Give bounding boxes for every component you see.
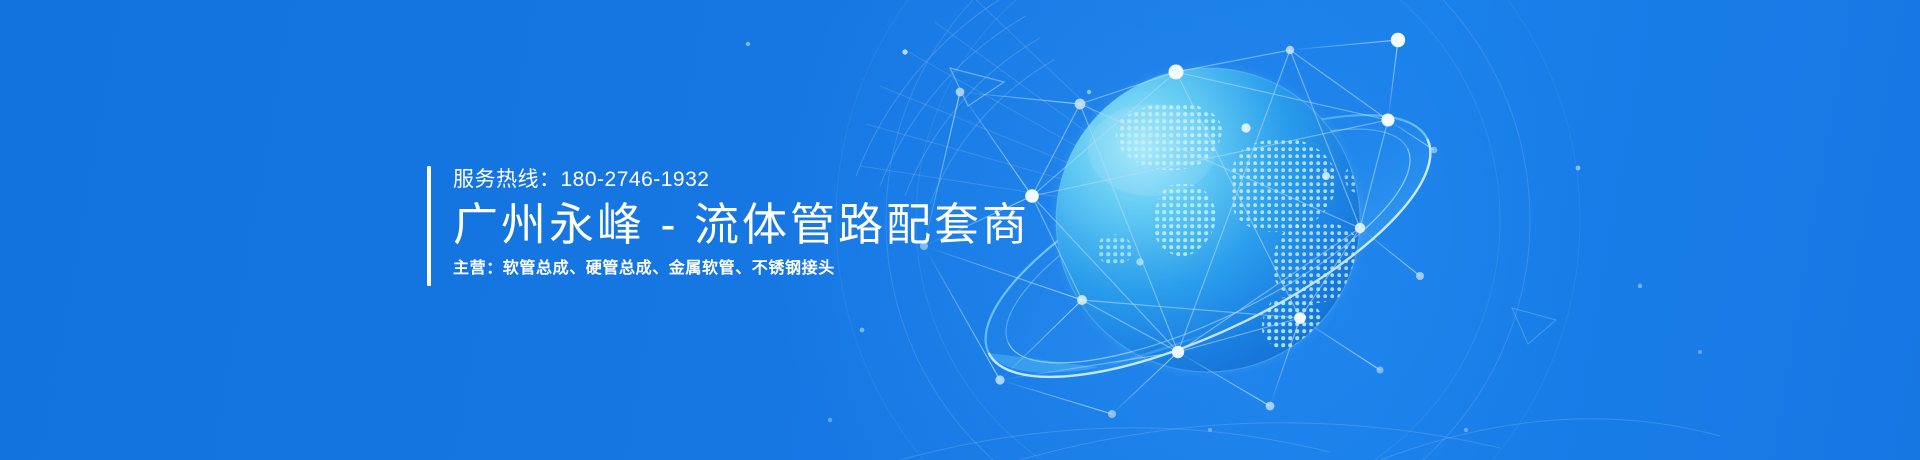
wireframe-triangle-small — [1512, 308, 1556, 344]
banner-subline: 主营：软管总成、硬管总成、金属软管、不锈钢接头 — [453, 259, 1030, 279]
accent-bar — [427, 166, 431, 286]
banner-text-lines: 服务热线：180-2746-1932 广州永峰 - 流体管路配套商 主营：软管总… — [453, 166, 1030, 286]
wireframe-triangle — [950, 68, 1004, 106]
hero-banner: 服务热线：180-2746-1932 广州永峰 - 流体管路配套商 主营：软管总… — [0, 0, 1920, 460]
network-lines — [1032, 50, 1388, 352]
service-hotline: 服务热线：180-2746-1932 — [453, 167, 1030, 192]
banner-headline: 广州永峰 - 流体管路配套商 — [453, 197, 1030, 253]
banner-text-block: 服务热线：180-2746-1932 广州永峰 - 流体管路配套商 主营：软管总… — [427, 166, 1030, 286]
globe-sphere — [1048, 60, 1384, 380]
